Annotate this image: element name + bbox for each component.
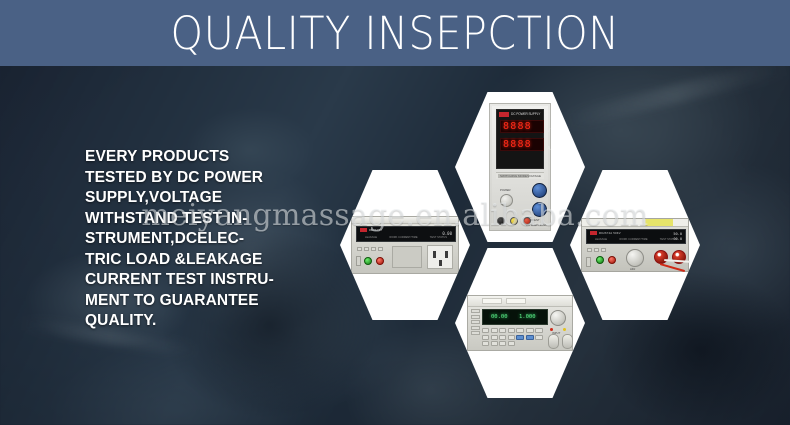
device-side-button-column: [471, 309, 480, 343]
device-top-shell: [582, 219, 688, 227]
voltage-knob: [532, 183, 547, 198]
terminal-ground: [510, 217, 518, 225]
brand-logo: [499, 112, 509, 117]
stop-lamp-red: [376, 257, 384, 265]
current-display: 8888: [500, 138, 544, 151]
display-segment-label: WORK CURRENT/TIME: [389, 236, 417, 239]
device-button-row: [357, 247, 383, 251]
device-display-panel: DC POWER SUPPLY 8888 8888 V A: [496, 109, 544, 169]
switching-mode-label: SWITCHING MODE: [498, 174, 529, 178]
hexagon-dc-power-supply: DC POWER SUPPLY 8888 8888 V A SWITCHING …: [455, 92, 585, 242]
device-top-shell: [352, 217, 458, 224]
voltage-unit-label: V: [547, 128, 550, 134]
description-line: SUPPLY,VOLTAGE: [85, 188, 285, 209]
panel-button: [378, 247, 383, 251]
rotary-encoder-knob: [550, 310, 566, 326]
device-button-row: [587, 248, 606, 252]
device-subpanel: SWITCHING MODE VOLTAGE: [496, 172, 544, 179]
voltage-knob-label: VOLTAGE: [527, 174, 541, 178]
keypad-key: [482, 341, 489, 346]
description-line: CURRENT TEST INSTRU-: [85, 270, 285, 291]
description-line: STRUMENT,DCELEC-: [85, 229, 285, 250]
panel-button: [357, 247, 362, 251]
display-segment-label: LEAKAGE: [365, 236, 377, 239]
device-display: RK2674A 50KV 50.0 00.0 LEAKAGE WORK CURR…: [586, 229, 686, 244]
description-line: QUALITY.: [85, 311, 285, 332]
device-output-socket: [427, 245, 453, 269]
keypad-key: [508, 341, 515, 346]
panel-button: [587, 248, 592, 252]
device-sticker: [506, 298, 526, 304]
function-button: [516, 335, 524, 340]
device-dc-power-supply: DC POWER SUPPLY 8888 8888 V A SWITCHING …: [489, 103, 551, 231]
description-line: WITHSTAND TEST IN-: [85, 209, 285, 230]
power-switch: [586, 257, 591, 267]
voltage-display: 8888: [500, 120, 544, 133]
hexagon-leakage-current-tester: RK2675Y 0.00 LEAKAGE WORK CURRENT/TIME T…: [340, 170, 470, 320]
function-button: [526, 335, 534, 340]
panel-button: [371, 247, 376, 251]
panel-button: [471, 315, 480, 319]
knob-label: ADJ: [630, 267, 635, 271]
function-button-grid: [516, 328, 543, 340]
promo-banner: QUALITY INSEPCTION EVERY PRODUCTS TESTED…: [0, 0, 790, 425]
panel-button: [471, 309, 480, 313]
keypad-key: [508, 335, 515, 340]
input-binding-post-positive: [562, 334, 573, 349]
display-value-right: 1.000: [519, 314, 536, 320]
device-model-label: RK2674A 50KV: [599, 231, 621, 235]
panel-button: [594, 248, 599, 252]
numeric-keypad: [482, 328, 515, 346]
keypad-key: [482, 335, 489, 340]
description-line: EVERY PRODUCTS: [85, 147, 285, 168]
output-terminal-group: [497, 217, 531, 225]
description-text-block: EVERY PRODUCTS TESTED BY DC POWER SUPPLY…: [85, 147, 285, 332]
panel-button: [364, 247, 369, 251]
device-leakage-current-test-instrument: RK2675Y 0.00 LEAKAGE WORK CURRENT/TIME T…: [351, 216, 459, 274]
description-line: TRIC LOAD &LEAKAGE: [85, 250, 285, 271]
device-model-label: RK2675Y: [369, 228, 382, 232]
start-lamp-green: [596, 256, 604, 264]
device-display: 00.00 1.000: [482, 309, 548, 325]
display-segment-label: LEAKAGE: [595, 238, 607, 241]
socket-pin: [439, 260, 442, 266]
keypad-key: [491, 328, 498, 333]
panel-button: [471, 326, 480, 330]
device-withstand-voltage-test-instrument: RK2674A 50KV 50.0 00.0 LEAKAGE WORK CURR…: [581, 218, 689, 272]
voltage-digits: 8888: [501, 121, 532, 132]
display-segment-row: LEAKAGE WORK CURRENT/TIME TEST STATUS: [359, 236, 453, 239]
terminal-positive: [523, 217, 531, 225]
device-blank-panel: [392, 246, 422, 268]
keypad-key: [499, 328, 506, 333]
function-button: [526, 328, 534, 333]
power-label: POWER: [500, 188, 511, 192]
display-segment-label: WORK CURRENT/TIME: [619, 238, 647, 241]
description-line: MENT TO GUARANTEE: [85, 291, 285, 312]
device-panel-title: DC POWER SUPPLY: [511, 112, 541, 117]
test-lead-red: [660, 263, 686, 272]
current-digits: 8888: [501, 139, 532, 150]
description-line: TESTED BY DC POWER: [85, 168, 285, 189]
power-knob: [500, 194, 513, 207]
device-display: RK2675Y 0.00 LEAKAGE WORK CURRENT/TIME T…: [356, 226, 456, 242]
socket-pin: [433, 251, 436, 258]
current-knob: [532, 202, 547, 217]
voltage-adjust-knob: [626, 249, 644, 267]
device-top-shell: [468, 296, 572, 307]
keypad-key: [491, 335, 498, 340]
keypad-key: [482, 328, 489, 333]
power-switch: [356, 256, 361, 266]
device-sticker: [482, 298, 502, 304]
display-segment-label: TEST STATUS: [430, 236, 447, 239]
display-value-left: 00.00: [491, 314, 508, 320]
socket-pin: [445, 251, 448, 258]
panel-button: [601, 248, 606, 252]
device-dc-electronic-load: PS-3020 DC ELECTRONIC LOAD 00.00 1.000: [467, 295, 573, 351]
display-segment-label: TEST STATUS: [660, 238, 677, 241]
panel-button: [471, 320, 480, 324]
current-unit-label: A: [547, 146, 551, 152]
header-band: QUALITY INSEPCTION: [0, 0, 790, 66]
input-indicator-yellow: [563, 328, 566, 331]
panel-button: [471, 331, 480, 335]
keypad-key: [499, 341, 506, 346]
input-binding-post-negative: [548, 334, 559, 349]
terminal-negative: [497, 217, 505, 225]
stop-lamp-red: [608, 256, 616, 264]
hv-output-jack: [654, 250, 668, 264]
keypad-key: [508, 328, 515, 333]
start-lamp-green: [364, 257, 372, 265]
brand-logo: [590, 231, 597, 235]
function-button: [535, 328, 543, 333]
display-segment-row: LEAKAGE WORK CURRENT/TIME TEST STATUS: [589, 238, 683, 241]
page-title: QUALITY INSEPCTION: [170, 11, 619, 56]
keypad-key: [491, 341, 498, 346]
function-button: [535, 335, 543, 340]
function-button: [516, 328, 524, 333]
brand-logo: [360, 228, 367, 232]
keypad-key: [499, 335, 506, 340]
hexagon-withstand-voltage-tester: RK2674A 50KV 50.0 00.0 LEAKAGE WORK CURR…: [570, 170, 700, 320]
device-front-face: DC POWER SUPPLY 8888 8888 V A SWITCHING …: [492, 106, 548, 228]
hexagon-dc-electronic-load: PS-3020 DC ELECTRONIC LOAD 00.00 1.000: [455, 248, 585, 398]
